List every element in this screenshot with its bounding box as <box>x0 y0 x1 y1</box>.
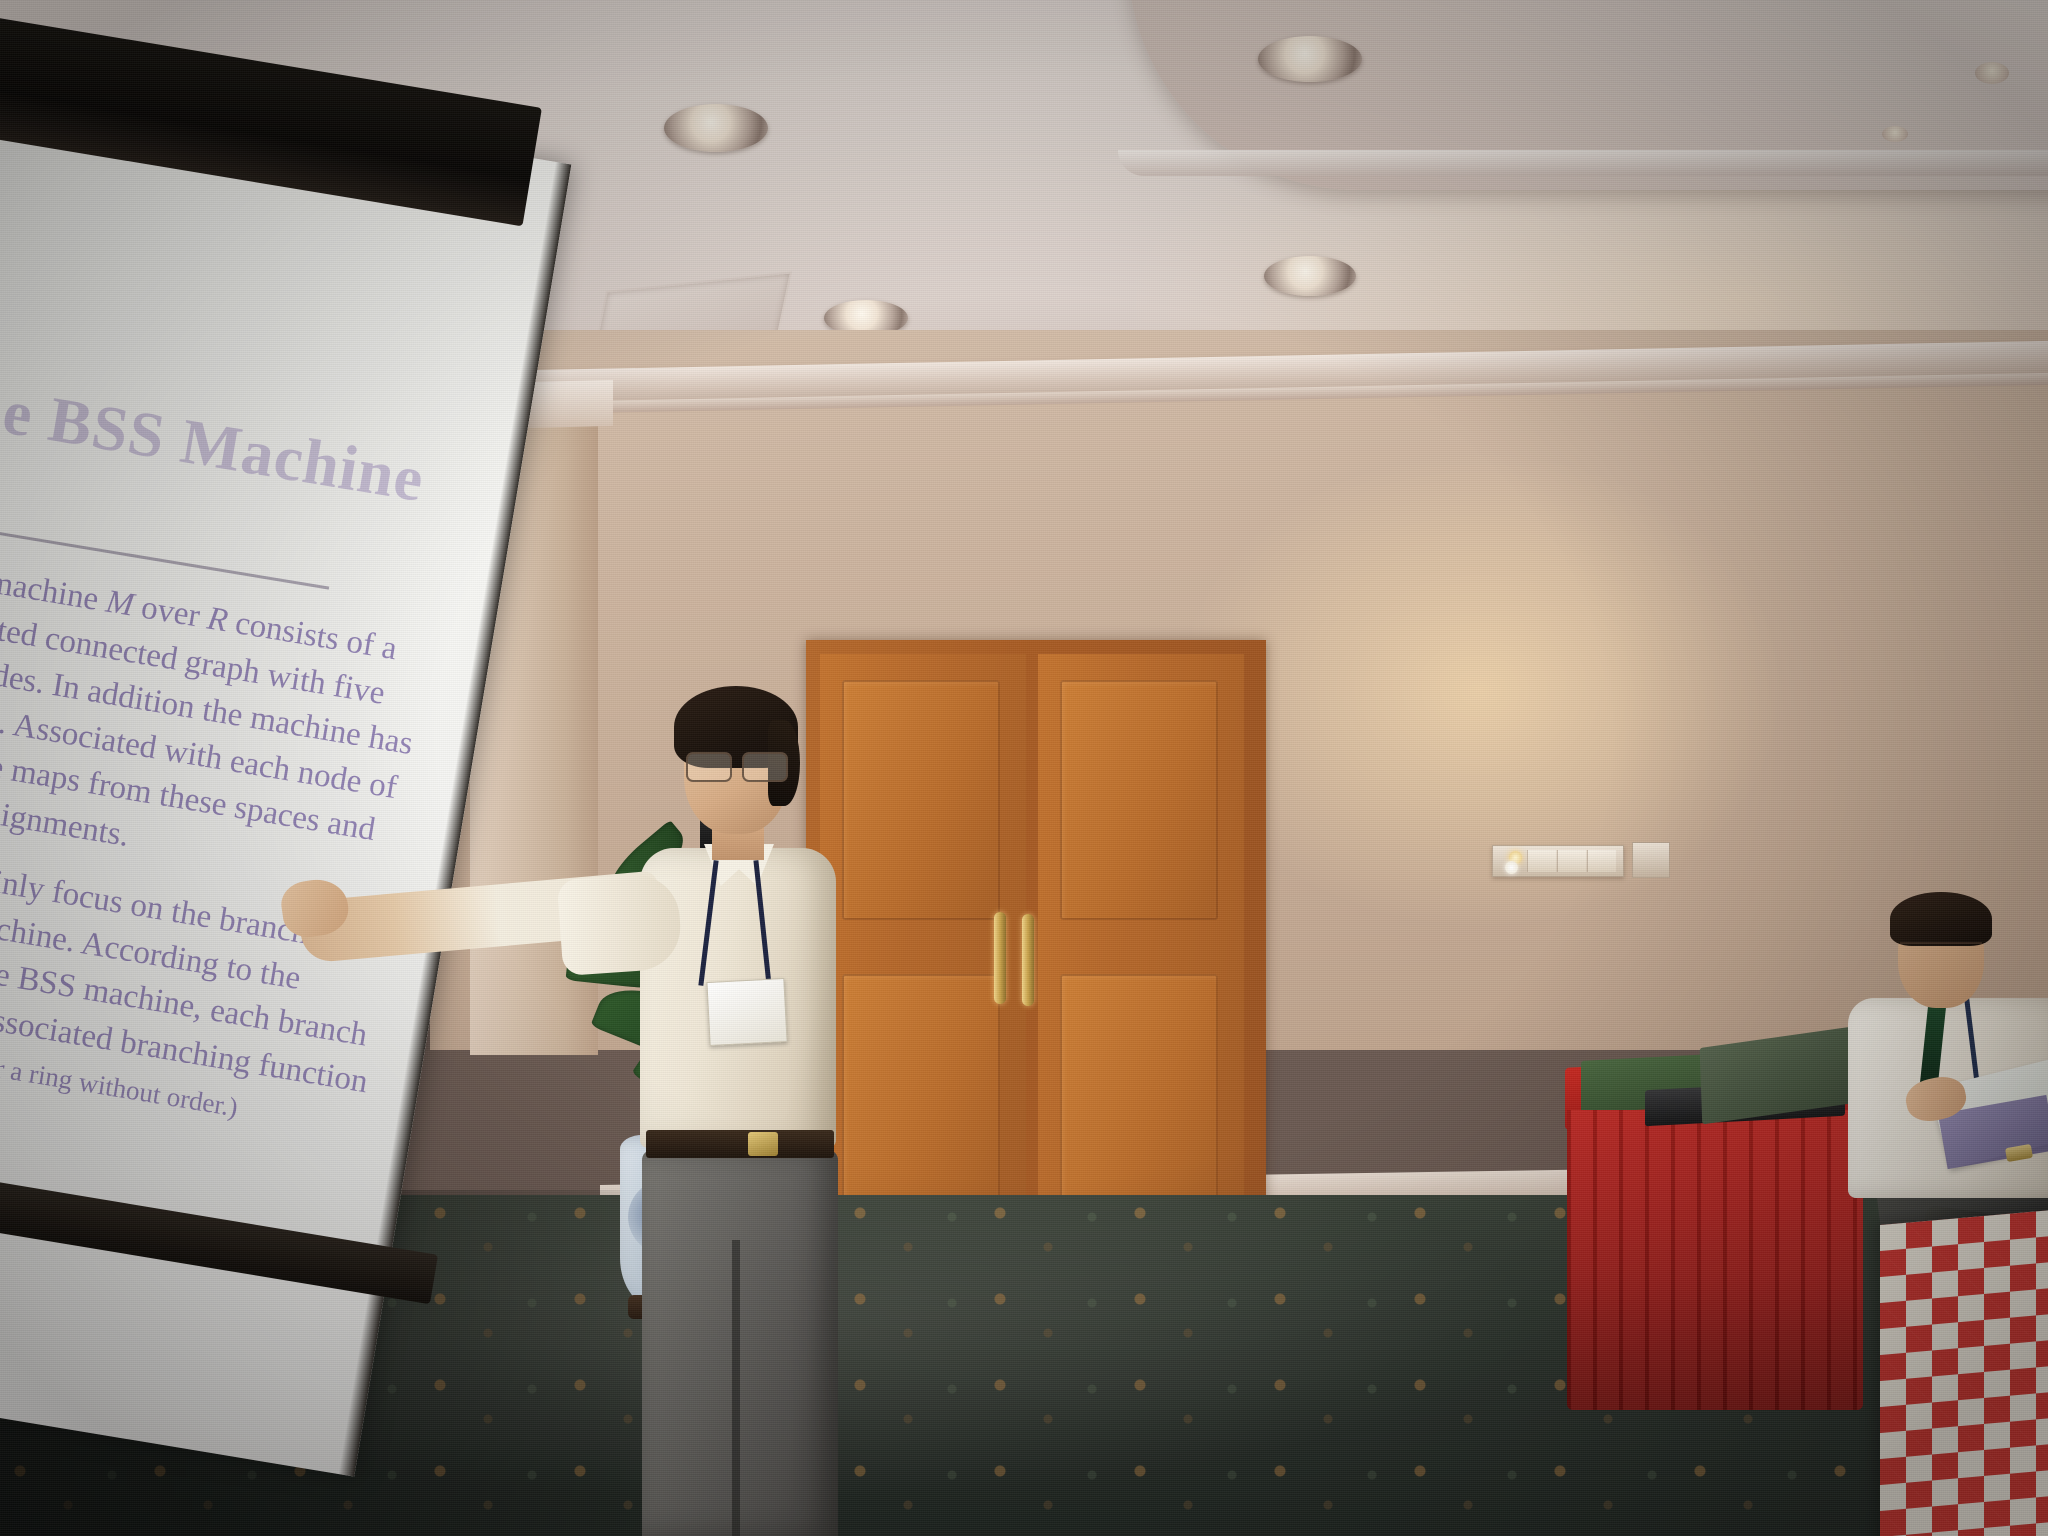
wall-outlet-plate[interactable] <box>1632 842 1670 878</box>
ceiling-soffit-lip <box>1118 150 2048 176</box>
presenter-trouser-seam <box>732 1240 740 1536</box>
switch-indicator <box>1505 861 1518 874</box>
light-switch[interactable] <box>1587 850 1616 872</box>
ceiling-spot <box>1882 126 1908 142</box>
door-handle-left[interactable] <box>994 912 1006 1004</box>
standing-presenter <box>600 680 920 1536</box>
slide-text-run: The BSS machine <box>0 543 109 619</box>
presenter-name-badge <box>706 978 787 1046</box>
seated-glasses <box>1900 942 1982 962</box>
presenter-trousers <box>642 1150 838 1536</box>
door-handle-right[interactable] <box>1022 914 1034 1006</box>
presenter-belt <box>646 1130 834 1158</box>
recessed-downlight <box>1258 36 1362 82</box>
projection-screen: The BSS Machine The BSS machine M over R… <box>0 0 600 1400</box>
light-switch[interactable] <box>1527 850 1556 872</box>
ceiling-spot <box>1975 62 2009 84</box>
slide-title: The BSS Machine <box>0 363 483 525</box>
glasses-lens-right <box>742 752 788 782</box>
presenter-sleeve <box>557 872 683 976</box>
recessed-downlight <box>1264 256 1356 296</box>
door-leaf-right[interactable] <box>1038 654 1244 1246</box>
table-skirt <box>1567 1110 1863 1410</box>
light-switch[interactable] <box>1557 850 1586 872</box>
door-panel <box>1060 974 1218 1222</box>
presenter-glasses <box>686 752 786 778</box>
slide-text-run: over <box>131 588 211 636</box>
light-switch-plate[interactable] <box>1492 845 1624 877</box>
presentation-room-photo: The BSS Machine The BSS machine M over R… <box>0 0 2048 1536</box>
slide-body: The BSS machine M over R consists of a f… <box>0 539 459 1175</box>
presenter-belt-buckle <box>748 1132 778 1156</box>
slide-paragraph-1: The BSS machine M over R consists of a f… <box>0 539 459 907</box>
door-panel <box>1060 680 1218 920</box>
recessed-downlight <box>664 104 768 152</box>
seated-hair <box>1890 892 1992 946</box>
checkered-tablecloth-table <box>1880 1205 2048 1536</box>
glasses-lens-left <box>686 752 732 782</box>
